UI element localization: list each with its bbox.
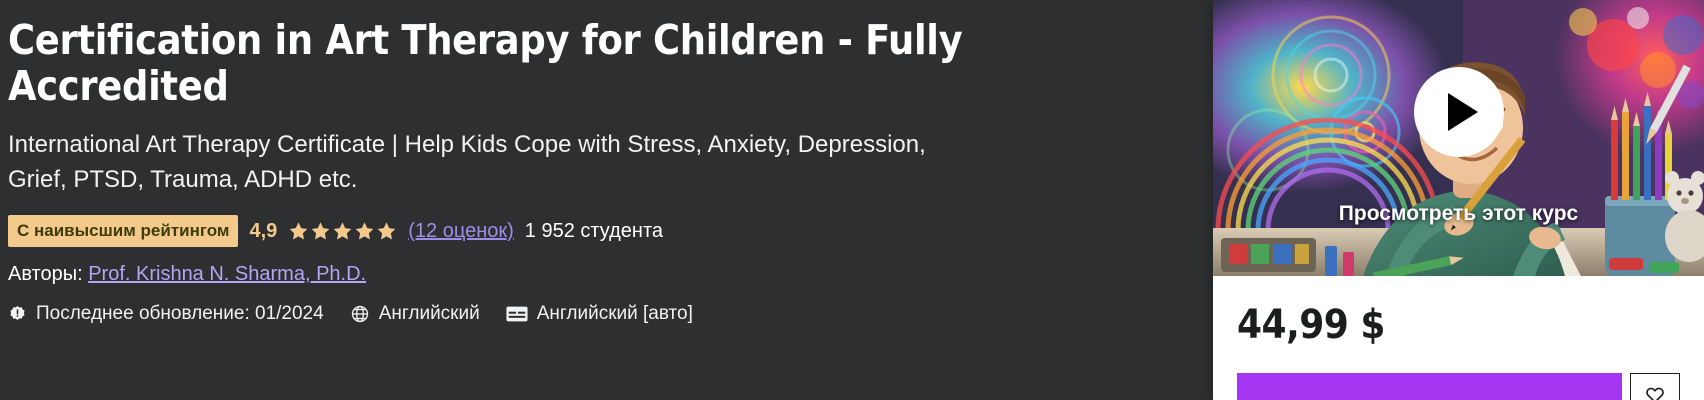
star-icon [354, 221, 375, 242]
globe-icon [350, 304, 370, 324]
rating-value: 4,9 [249, 220, 277, 243]
language-item: Английский [350, 303, 480, 325]
heart-icon [1645, 385, 1665, 400]
closed-caption-icon [506, 305, 528, 323]
play-icon [1448, 93, 1478, 131]
course-subtitle: International Art Therapy Certificate | … [8, 128, 968, 198]
wishlist-button[interactable] [1630, 373, 1680, 400]
authors-row: Авторы: Prof. Krishna N. Sharma, Ph.D. [8, 263, 1050, 286]
purchase-card: Просмотреть этот курс 44,99 $ [1213, 0, 1704, 400]
status-badge: С наивысшим рейтингом [8, 215, 238, 247]
authors-label: Авторы: [8, 263, 83, 285]
buy-panel: 44,99 $ [1213, 276, 1704, 400]
rating-row: С наивысшим рейтингом 4,9 (12 оценок) 1 … [8, 215, 1050, 247]
author-link[interactable]: Prof. Krishna N. Sharma, Ph.D. [88, 263, 366, 285]
star-rating [288, 221, 397, 242]
course-info-panel: Certification in Art Therapy for Childre… [0, 0, 1080, 400]
update-badge-icon [8, 305, 27, 324]
last-updated-text: Последнее обновление: 01/2024 [36, 303, 324, 325]
last-updated-item: Последнее обновление: 01/2024 [8, 303, 324, 325]
add-to-cart-button[interactable] [1237, 373, 1622, 400]
language-text: Английский [379, 303, 480, 325]
play-button[interactable] [1414, 67, 1504, 157]
students-count: 1 952 студента [525, 220, 663, 243]
star-icon [310, 221, 331, 242]
course-landing-header: Certification in Art Therapy for Childre… [0, 0, 1704, 400]
star-icon [376, 221, 397, 242]
star-icon [288, 221, 309, 242]
preview-caption: Просмотреть этот курс [1213, 202, 1704, 226]
page-title: Certification in Art Therapy for Childre… [8, 18, 1023, 110]
course-preview-video[interactable]: Просмотреть этот курс [1213, 0, 1704, 276]
ratings-count-link[interactable]: (12 оценок) [408, 220, 514, 243]
purchase-button-row [1237, 373, 1680, 400]
captions-item: Английский [авто] [506, 303, 693, 325]
course-meta-row: Последнее обновление: 01/2024 Английский [8, 303, 1050, 325]
star-icon [332, 221, 353, 242]
course-price: 44,99 $ [1237, 302, 1680, 348]
captions-text: Английский [авто] [537, 303, 693, 325]
